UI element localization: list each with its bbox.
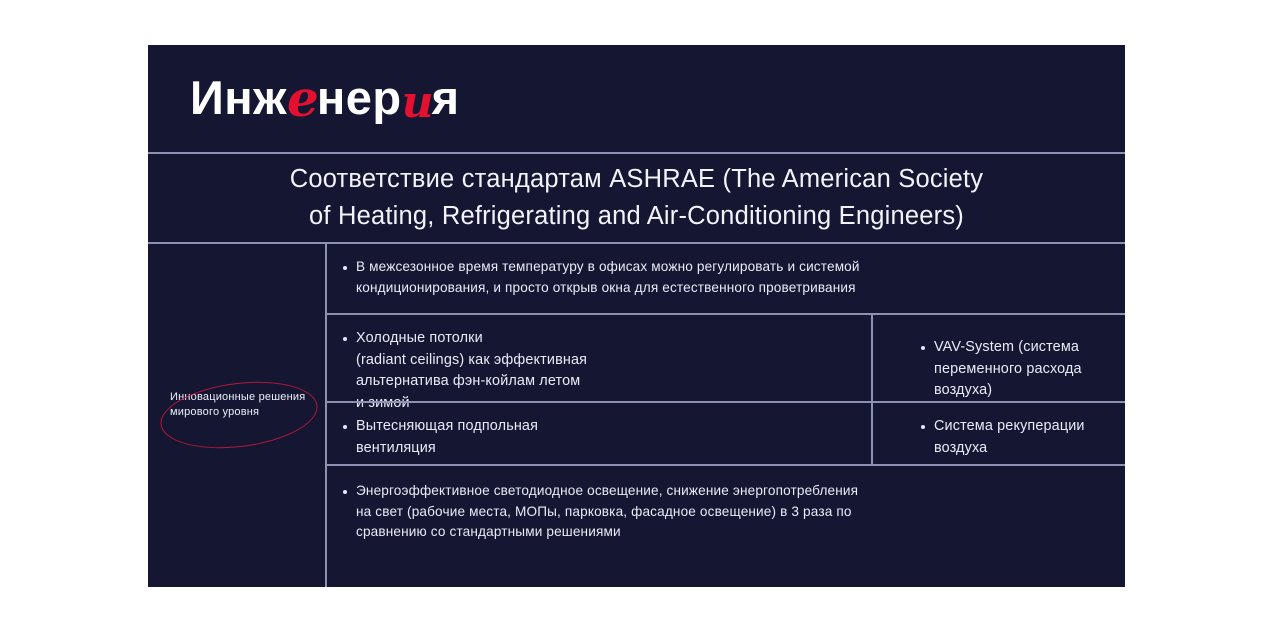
bullet-cell: VAV-System (система переменного расхода … xyxy=(873,315,1125,401)
logo-band: Инженерия xyxy=(148,45,1125,152)
bullet-dot-icon xyxy=(343,490,347,494)
logo-part-1: Инж xyxy=(190,71,287,124)
bullet-cell: Вытесняющая подпольная вентиляция xyxy=(327,403,871,464)
bullet-dot-icon xyxy=(343,266,347,270)
bullet-cell: Энергоэффективное светодиодное освещение… xyxy=(327,466,1125,587)
company-logo: Инженерия xyxy=(190,69,460,125)
bullet-column: В межсезонное время температуру в офисах… xyxy=(327,244,1125,587)
divider-mid-column xyxy=(871,315,873,464)
presentation-slide: Инженерия Соответствие стандартам ASHRAE… xyxy=(148,45,1125,587)
bullet-text: Энергоэффективное светодиодное освещение… xyxy=(356,481,858,543)
bullet-text: В межсезонное время температуру в офисах… xyxy=(356,257,860,298)
title-line-2: of Heating, Refrigerating and Air-Condit… xyxy=(309,198,964,235)
bullet-dot-icon xyxy=(343,425,347,429)
annotation-text: Инновационные решения мирового уровня xyxy=(170,390,306,420)
slide-title: Соответствие стандартам ASHRAE (The Amer… xyxy=(148,154,1125,242)
table-row: Вытесняющая подпольная вентиляция Систем… xyxy=(327,403,1125,464)
bullet-cell: Система рекуперации воздуха xyxy=(873,403,1125,464)
bullet-cell: В межсезонное время температуру в офисах… xyxy=(327,244,1125,313)
screenshot-canvas: Инженерия Соответствие стандартам ASHRAE… xyxy=(0,0,1280,639)
logo-part-3: нер xyxy=(317,71,402,124)
table-row: В межсезонное время температуру в офисах… xyxy=(327,244,1125,313)
bullet-dot-icon xyxy=(921,346,925,350)
bullet-dot-icon xyxy=(343,337,347,341)
annotation-column: Инновационные решения мирового уровня xyxy=(148,244,325,587)
logo-part-5: я xyxy=(432,71,460,124)
title-line-1: Соответствие стандартам ASHRAE (The Amer… xyxy=(290,161,984,198)
bullet-text: Система рекуперации воздуха xyxy=(934,416,1125,459)
content-area: Инновационные решения мирового уровня В … xyxy=(148,244,1125,587)
logo-part-2-accent: е xyxy=(287,69,317,128)
table-row: Энергоэффективное светодиодное освещение… xyxy=(327,466,1125,587)
bullet-dot-icon xyxy=(921,425,925,429)
bullet-text: VAV-System (система переменного расхода … xyxy=(934,337,1125,402)
table-row: Холодные потолки (radiant ceilings) как … xyxy=(327,315,1125,401)
bullet-cell: Холодные потолки (radiant ceilings) как … xyxy=(327,315,871,401)
bullet-text: Вытесняющая подпольная вентиляция xyxy=(356,416,538,459)
logo-part-4-accent: и xyxy=(402,77,432,128)
